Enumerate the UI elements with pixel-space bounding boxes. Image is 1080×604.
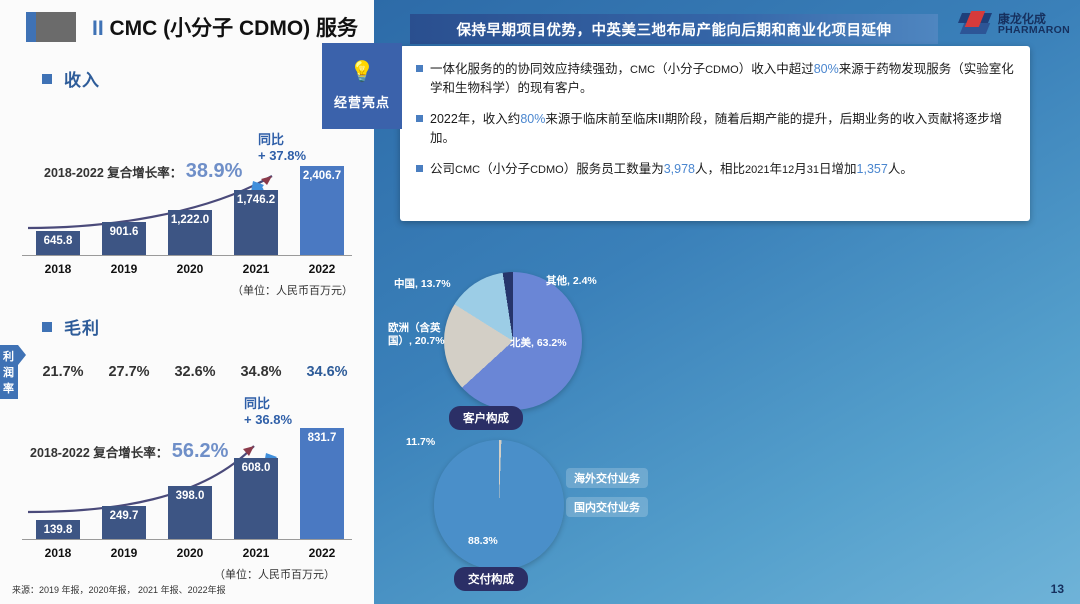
x-axis-label: 2018	[28, 262, 88, 276]
pie-label-europe: 欧洲（含英 国）, 20.7%	[388, 322, 476, 348]
bar: 901.6	[102, 222, 146, 255]
customer-mix-badge: 客户构成	[449, 406, 523, 430]
slide-root: II CMC (小分子 CDMO) 服务 收入 2018-2022 复合增长率：…	[0, 0, 1080, 604]
banner-text: 保持早期项目优势，中英美三地布局产能向后期和商业化项目延伸	[457, 19, 892, 40]
x-axis-label: 2020	[160, 546, 220, 560]
source-note: 来源：2019 年报，2020年报， 2021 年报、2022年报	[12, 583, 226, 596]
delivery-legend-domestic: 国内交付业务	[566, 497, 648, 517]
title-main: CMC (小分子 CDMO) 服务	[110, 17, 358, 40]
revenue-axis-line	[22, 255, 352, 256]
title-square-icon	[36, 12, 76, 42]
pie-label-north-america: 北美, 63.2%	[510, 337, 567, 350]
bar: 1,222.0	[168, 210, 212, 255]
revenue-bar-chart: 645.82018901.620191,222.020201,746.22021…	[22, 150, 352, 278]
section-banner: 保持早期项目优势，中英美三地布局产能向后期和商业化项目延伸	[410, 14, 938, 44]
bar: 2,406.7	[300, 166, 344, 255]
delivery-label-overseas-pct: 11.7%	[406, 436, 435, 449]
highlight-tab: 💡 经营亮点	[322, 43, 402, 129]
gross-profit-bar-chart: 139.82018249.72019398.02020608.02021831.…	[22, 412, 352, 562]
revenue-yoy-label: 同比	[258, 132, 306, 148]
gross-profit-yoy-label: 同比	[244, 396, 292, 412]
section-bullet-icon	[42, 74, 52, 84]
section-label-gross-profit: 毛利	[64, 314, 100, 339]
bar: 398.0	[168, 486, 212, 539]
bar: 831.7	[300, 428, 344, 539]
x-axis-label: 2021	[226, 546, 286, 560]
x-axis-label: 2019	[94, 546, 154, 560]
bar-value-label: 1,222.0	[168, 214, 212, 226]
title-roman-numeral: II	[92, 17, 104, 40]
section-header-revenue: 收入	[42, 66, 100, 91]
highlight-bullet: 2022年，收入约80%来源于临床前至临床II期阶段，随着后期产能的提升，后期业…	[430, 110, 1014, 149]
section-label-revenue: 收入	[64, 66, 100, 91]
page-number: 13	[1051, 582, 1064, 596]
revenue-unit-note: （单位：人民币百万元）	[232, 282, 353, 298]
delivery-label-domestic-pct: 88.3%	[468, 535, 498, 548]
bar-value-label: 2,406.7	[300, 170, 344, 182]
section-header-gross-profit: 毛利	[42, 314, 100, 339]
highlight-bullet: 一体化服务的的协同效应持续强劲，CMC（小分子CDMO）收入中超过80%来源于药…	[430, 60, 1014, 99]
profit-margin-value: 34.6%	[294, 364, 360, 380]
bar-value-label: 901.6	[102, 226, 146, 238]
logo-en-text: PHARMARON	[998, 25, 1070, 36]
bar: 645.8	[36, 231, 80, 255]
highlights-textbox: 一体化服务的的协同效应持续强劲，CMC（小分子CDMO）收入中超过80%来源于药…	[400, 46, 1030, 221]
section-bullet-icon	[42, 322, 52, 332]
lightbulb-icon: 💡	[350, 62, 375, 82]
profit-margin-value: 32.6%	[162, 364, 228, 380]
x-axis-label: 2022	[292, 546, 352, 560]
title-text: II CMC (小分子 CDMO) 服务	[92, 12, 358, 42]
profit-margin-value: 27.7%	[96, 364, 162, 380]
company-logo: 康龙化成 PHARMARON	[960, 5, 1070, 43]
x-axis-label: 2022	[292, 262, 352, 276]
right-panel: 保持早期项目优势，中英美三地布局产能向后期和商业化项目延伸 康龙化成 PHARM…	[374, 0, 1080, 604]
highlight-tab-label: 经营亮点	[334, 92, 390, 111]
page-title: II CMC (小分子 CDMO) 服务	[26, 12, 358, 42]
bar-value-label: 831.7	[300, 432, 344, 444]
bar: 249.7	[102, 506, 146, 539]
bar: 608.0	[234, 458, 278, 539]
x-axis-label: 2021	[226, 262, 286, 276]
profit-margin-value: 21.7%	[30, 364, 96, 380]
profit-margin-tag: 利润率	[0, 345, 18, 399]
x-axis-label: 2020	[160, 262, 220, 276]
x-axis-label: 2018	[28, 546, 88, 560]
delivery-legend-overseas: 海外交付业务	[566, 468, 648, 488]
bar: 1,746.2	[234, 190, 278, 255]
pharmaron-mark-icon	[960, 11, 993, 37]
profit-margin-row: 利润率 21.7%27.7%32.6%34.8%34.6%	[0, 345, 360, 399]
bar-value-label: 398.0	[168, 490, 212, 502]
pie-label-china: 中国, 13.7%	[394, 278, 451, 291]
x-axis-label: 2019	[94, 262, 154, 276]
logo-cn-text: 康龙化成	[998, 13, 1070, 25]
gross-profit-unit-note: （单位：人民币百万元）	[214, 566, 335, 582]
bar-value-label: 249.7	[102, 510, 146, 522]
bar-value-label: 608.0	[234, 462, 278, 474]
delivery-mix-badge: 交付构成	[454, 567, 528, 591]
bar: 139.8	[36, 520, 80, 539]
pie-label-other: 其他, 2.4%	[546, 275, 597, 288]
title-accent-bar	[26, 12, 36, 42]
left-panel: II CMC (小分子 CDMO) 服务 收入 2018-2022 复合增长率：…	[0, 0, 374, 604]
profit-margin-value: 34.8%	[228, 364, 294, 380]
delivery-mix-pie	[434, 440, 564, 570]
bar-value-label: 1,746.2	[234, 194, 278, 206]
bar-value-label: 645.8	[36, 235, 80, 247]
gross-profit-axis-line	[22, 539, 352, 540]
highlight-bullet: 公司CMC（小分子CDMO）服务员工数量为3,978人，相比2021年12月31…	[430, 160, 1014, 179]
bar-value-label: 139.8	[36, 524, 80, 536]
